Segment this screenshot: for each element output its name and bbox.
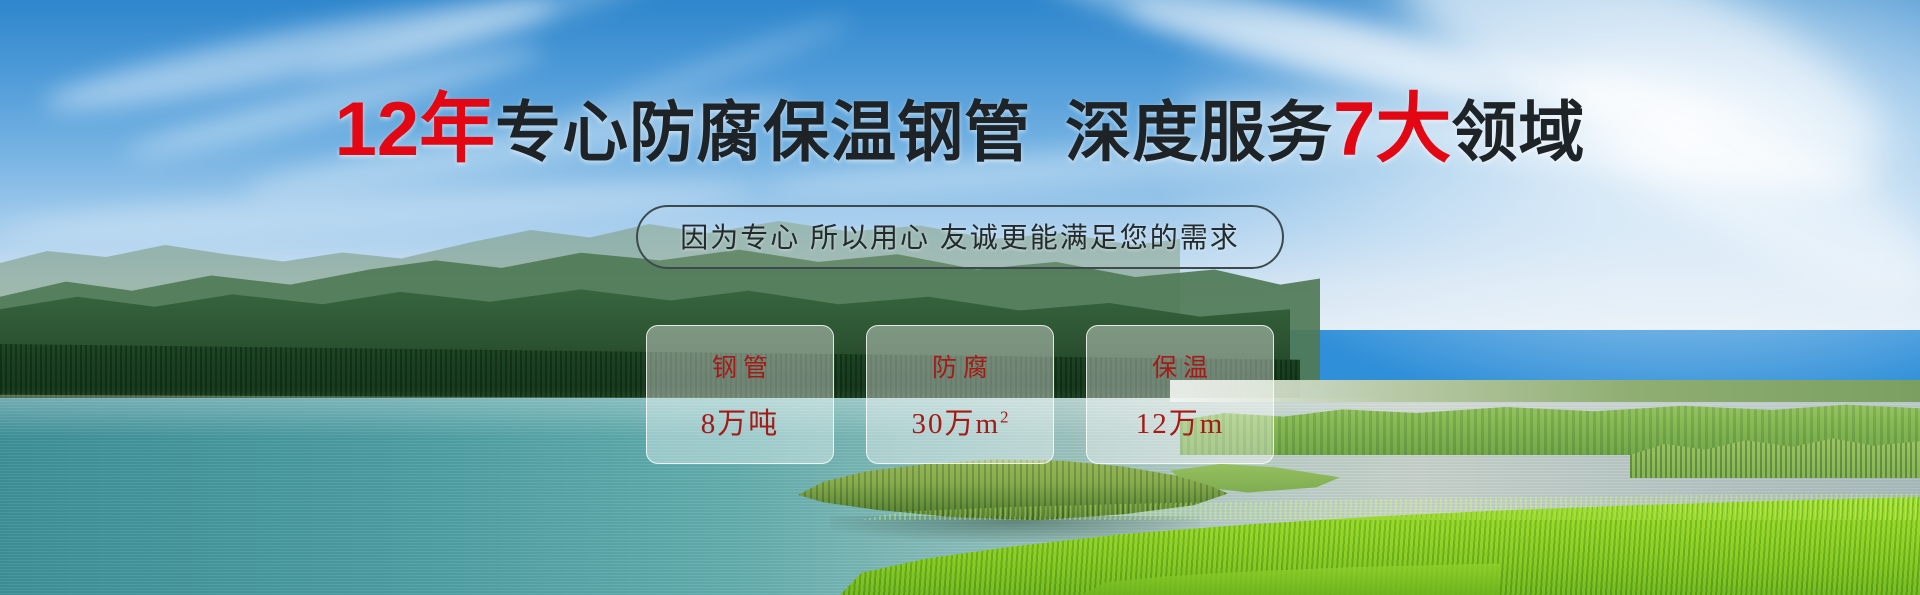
- stat-card-anticorrosion[interactable]: 防腐 30万m2: [866, 325, 1054, 464]
- banner-content: 12年专心防腐保温钢管深度服务7大领域 因为专心 所以用心 友诚更能满足您的需求…: [0, 0, 1920, 595]
- headline-service-segment: 深度服务: [1065, 95, 1333, 169]
- stat-card-value-text: 8万吨: [701, 408, 780, 440]
- headline-highlight-unit: 大: [1375, 87, 1451, 172]
- stat-card-value: 12万m: [1136, 400, 1225, 442]
- banner-headline: 12年专心防腐保温钢管深度服务7大领域: [0, 92, 1920, 168]
- banner-subtitle: 因为专心 所以用心 友诚更能满足您的需求: [636, 205, 1284, 269]
- stat-card-value: 30万m2: [911, 400, 1008, 442]
- stat-card-list: 钢管 8万吨 防腐 30万m2 保温 12万m: [0, 325, 1920, 464]
- headline-years-unit: 年: [419, 87, 495, 172]
- stat-card-insulation[interactable]: 保温 12万m: [1086, 325, 1274, 464]
- headline-years-number: 12: [335, 87, 420, 172]
- stat-card-steel-pipe[interactable]: 钢管 8万吨: [646, 325, 834, 464]
- stat-card-value-text: 30万m: [911, 408, 1000, 440]
- stat-card-label: 保温: [1146, 348, 1214, 384]
- headline-main-segment: 专心防腐保温钢管: [495, 95, 1031, 169]
- stat-card-value-superscript: 2: [1000, 407, 1009, 426]
- stat-card-value-text: 12万m: [1136, 408, 1225, 440]
- stat-card-value: 8万吨: [701, 400, 780, 442]
- stat-card-label: 防腐: [926, 348, 994, 384]
- headline-tail-segment: 领域: [1451, 95, 1585, 169]
- stat-card-label: 钢管: [706, 348, 774, 384]
- banner-subtitle-container: 因为专心 所以用心 友诚更能满足您的需求: [0, 205, 1920, 269]
- hero-banner: 12年专心防腐保温钢管深度服务7大领域 因为专心 所以用心 友诚更能满足您的需求…: [0, 0, 1920, 595]
- headline-highlight-number: 7: [1333, 87, 1375, 172]
